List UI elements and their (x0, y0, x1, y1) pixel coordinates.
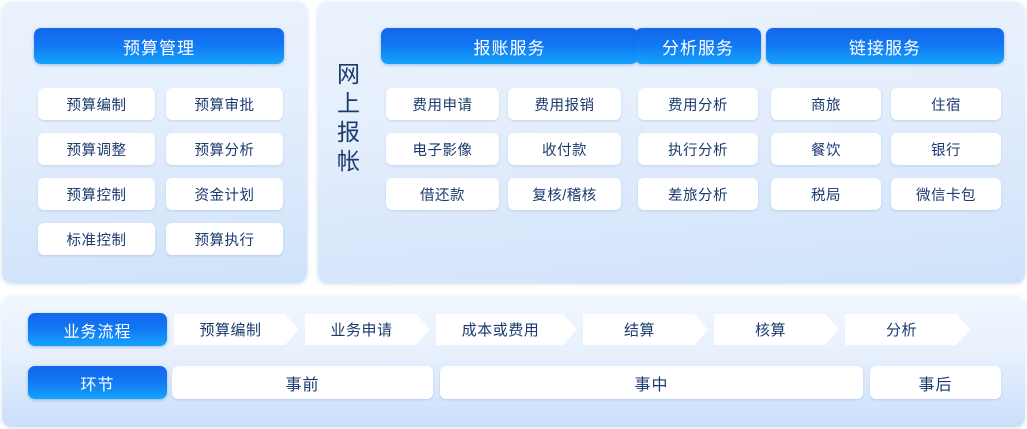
online-panel-vertical-label: 网 上 报 帐 (332, 60, 366, 176)
link-item-2[interactable]: 餐饮 (771, 133, 881, 165)
budget-item-6[interactable]: 标准控制 (38, 223, 155, 255)
analysis-service-header[interactable]: 分析服务 (635, 28, 761, 64)
link-service-header[interactable]: 链接服务 (766, 28, 1004, 64)
process-step-1[interactable]: 业务申请 (305, 314, 430, 345)
business-flow-panel: 业务流程 预算编制 业务申请 成本或费用 结算 核算 分析 环节 事前 事中 事… (2, 296, 1025, 427)
budget-item-7[interactable]: 预算执行 (166, 223, 283, 255)
process-step-3[interactable]: 结算 (583, 314, 708, 345)
link-item-5[interactable]: 微信卡包 (891, 178, 1001, 210)
budget-management-panel: 预算管理 预算编制 预算审批 预算调整 预算分析 预算控制 资金计划 标准控制 … (2, 2, 307, 283)
stage-2[interactable]: 事后 (870, 366, 1001, 399)
process-step-0[interactable]: 预算编制 (174, 314, 299, 345)
budget-item-1[interactable]: 预算审批 (166, 88, 283, 120)
link-item-3[interactable]: 银行 (891, 133, 1001, 165)
vertical-label-char-2: 报 (332, 118, 366, 147)
reimbursement-item-3[interactable]: 收付款 (508, 133, 621, 165)
reimbursement-item-2[interactable]: 电子影像 (386, 133, 499, 165)
analysis-item-2[interactable]: 差旅分析 (638, 178, 758, 210)
stage-label[interactable]: 环节 (28, 366, 167, 399)
vertical-label-char-3: 帐 (332, 147, 366, 176)
reimbursement-service-header[interactable]: 报账服务 (381, 28, 638, 64)
reimbursement-item-1[interactable]: 费用报销 (508, 88, 621, 120)
budget-item-2[interactable]: 预算调整 (38, 133, 155, 165)
reimbursement-item-5[interactable]: 复核/稽核 (508, 178, 621, 210)
reimbursement-item-4[interactable]: 借还款 (386, 178, 499, 210)
budget-item-5[interactable]: 资金计划 (166, 178, 283, 210)
stage-0[interactable]: 事前 (172, 366, 433, 399)
process-step-2[interactable]: 成本或费用 (436, 314, 577, 345)
analysis-item-1[interactable]: 执行分析 (638, 133, 758, 165)
online-reimbursement-panel: 网 上 报 帐 报账服务 费用申请 费用报销 电子影像 收付款 借还款 复核/稽… (318, 2, 1025, 283)
link-item-1[interactable]: 住宿 (891, 88, 1001, 120)
budget-item-4[interactable]: 预算控制 (38, 178, 155, 210)
process-step-4[interactable]: 核算 (714, 314, 839, 345)
link-item-0[interactable]: 商旅 (771, 88, 881, 120)
process-flow-label[interactable]: 业务流程 (28, 313, 167, 346)
stage-1[interactable]: 事中 (440, 366, 863, 399)
link-item-4[interactable]: 税局 (771, 178, 881, 210)
process-step-5[interactable]: 分析 (845, 314, 970, 345)
vertical-label-char-1: 上 (332, 89, 366, 118)
analysis-item-0[interactable]: 费用分析 (638, 88, 758, 120)
budget-panel-header[interactable]: 预算管理 (34, 28, 284, 64)
vertical-label-char-0: 网 (332, 60, 366, 89)
budget-item-3[interactable]: 预算分析 (166, 133, 283, 165)
reimbursement-item-0[interactable]: 费用申请 (386, 88, 499, 120)
infographic-canvas: 预算管理 预算编制 预算审批 预算调整 预算分析 预算控制 资金计划 标准控制 … (0, 0, 1027, 429)
budget-item-0[interactable]: 预算编制 (38, 88, 155, 120)
